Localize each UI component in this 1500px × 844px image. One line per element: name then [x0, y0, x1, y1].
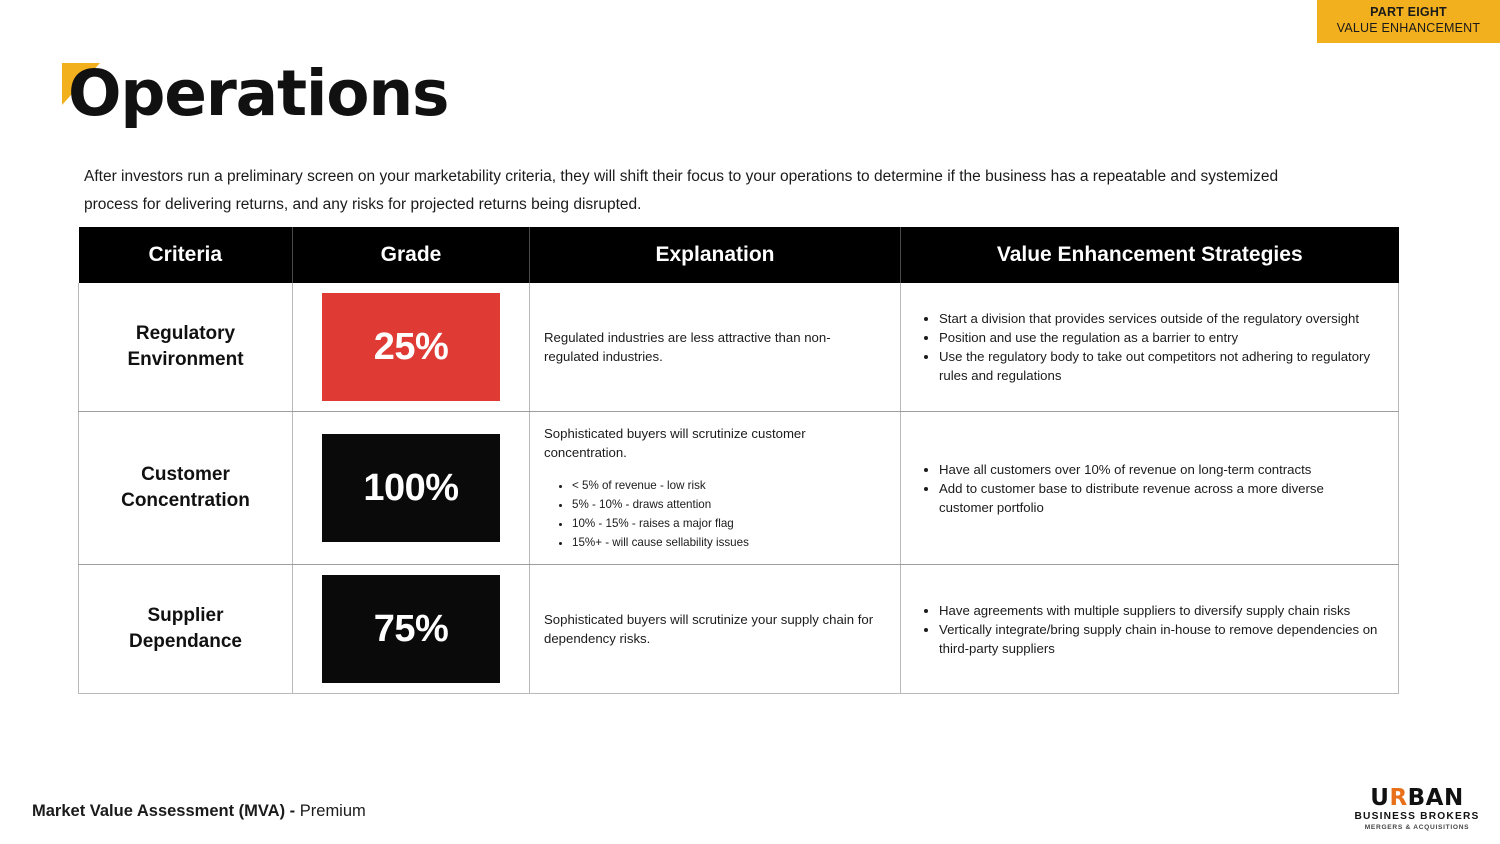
- table-row: Supplier Dependance 75% Sophisticated bu…: [79, 565, 1399, 694]
- intro-paragraph: After investors run a preliminary screen…: [84, 163, 1299, 219]
- column-header-criteria: Criteria: [79, 227, 293, 283]
- table-header: Criteria Grade Explanation Value Enhance…: [79, 227, 1399, 283]
- table-row: Customer Concentration 100% Sophisticate…: [79, 412, 1399, 565]
- criteria-label: Customer Concentration: [79, 412, 293, 565]
- brand-logo-subtitle: BUSINESS BROKERS: [1354, 812, 1480, 822]
- page-title: Operations: [62, 58, 448, 130]
- strategies-list: Have agreements with multiple suppliers …: [909, 601, 1380, 658]
- brand-logo-u: U: [1370, 785, 1389, 811]
- strategies-cell: Have all customers over 10% of revenue o…: [901, 412, 1399, 565]
- list-item: Have all customers over 10% of revenue o…: [939, 460, 1380, 479]
- table-header-row: Criteria Grade Explanation Value Enhance…: [79, 227, 1399, 283]
- list-item: Add to customer base to distribute reven…: [939, 479, 1380, 517]
- brand-logo-tagline: MERGERS & ACQUISITIONS: [1354, 825, 1480, 832]
- list-item: Have agreements with multiple suppliers …: [939, 601, 1380, 620]
- list-item: Position and use the regulation as a bar…: [939, 328, 1380, 347]
- grade-badge: 75%: [322, 575, 500, 683]
- grade-badge: 100%: [322, 434, 500, 542]
- list-item: 15%+ - will cause sellability issues: [572, 533, 884, 552]
- footer-document-title: Market Value Assessment (MVA) -: [32, 802, 295, 820]
- explanation-cell: Sophisticated buyers will scrutinize you…: [530, 565, 901, 694]
- brand-logo: URBAN BUSINESS BROKERS MERGERS & ACQUISI…: [1354, 787, 1480, 832]
- strategies-cell: Start a division that provides services …: [901, 283, 1399, 412]
- strategies-list: Start a division that provides services …: [909, 309, 1380, 385]
- list-item: Use the regulatory body to take out comp…: [939, 347, 1380, 385]
- page-title-block: Operations: [62, 58, 448, 130]
- grade-cell: 25%: [293, 283, 530, 412]
- strategies-list: Have all customers over 10% of revenue o…: [909, 460, 1380, 517]
- grade-cell: 100%: [293, 412, 530, 565]
- brand-logo-wordmark: URBAN: [1354, 787, 1480, 810]
- list-item: 10% - 15% - raises a major flag: [572, 514, 884, 533]
- footer-document-tier: Premium: [300, 802, 366, 820]
- grade-cell: 75%: [293, 565, 530, 694]
- explanation-text: Regulated industries are less attractive…: [544, 328, 884, 366]
- footer-document-label: Market Value Assessment (MVA) - Premium: [32, 802, 366, 821]
- column-header-explanation: Explanation: [530, 227, 901, 283]
- explanation-list: < 5% of revenue - low risk 5% - 10% - dr…: [544, 476, 884, 552]
- list-item: Vertically integrate/bring supply chain …: [939, 620, 1380, 658]
- criteria-grade-table: Criteria Grade Explanation Value Enhance…: [78, 227, 1399, 694]
- column-header-strategies: Value Enhancement Strategies: [901, 227, 1399, 283]
- part-badge-line2: VALUE ENHANCEMENT: [1327, 21, 1490, 37]
- list-item: 5% - 10% - draws attention: [572, 495, 884, 514]
- explanation-cell: Regulated industries are less attractive…: [530, 283, 901, 412]
- brand-logo-ban: BAN: [1408, 785, 1464, 811]
- strategies-cell: Have agreements with multiple suppliers …: [901, 565, 1399, 694]
- list-item: < 5% of revenue - low risk: [572, 476, 884, 495]
- column-header-grade: Grade: [293, 227, 530, 283]
- explanation-cell: Sophisticated buyers will scrutinize cus…: [530, 412, 901, 565]
- part-badge-line1: PART EIGHT: [1327, 5, 1490, 21]
- part-badge: PART EIGHT VALUE ENHANCEMENT: [1317, 0, 1500, 43]
- grade-badge: 25%: [322, 293, 500, 401]
- list-item: Start a division that provides services …: [939, 309, 1380, 328]
- criteria-label: Regulatory Environment: [79, 283, 293, 412]
- criteria-label: Supplier Dependance: [79, 565, 293, 694]
- table-body: Regulatory Environment 25% Regulated ind…: [79, 283, 1399, 694]
- explanation-text: Sophisticated buyers will scrutinize cus…: [544, 424, 884, 462]
- explanation-text: Sophisticated buyers will scrutinize you…: [544, 610, 884, 648]
- brand-logo-r-accent: R: [1389, 785, 1407, 811]
- table-row: Regulatory Environment 25% Regulated ind…: [79, 283, 1399, 412]
